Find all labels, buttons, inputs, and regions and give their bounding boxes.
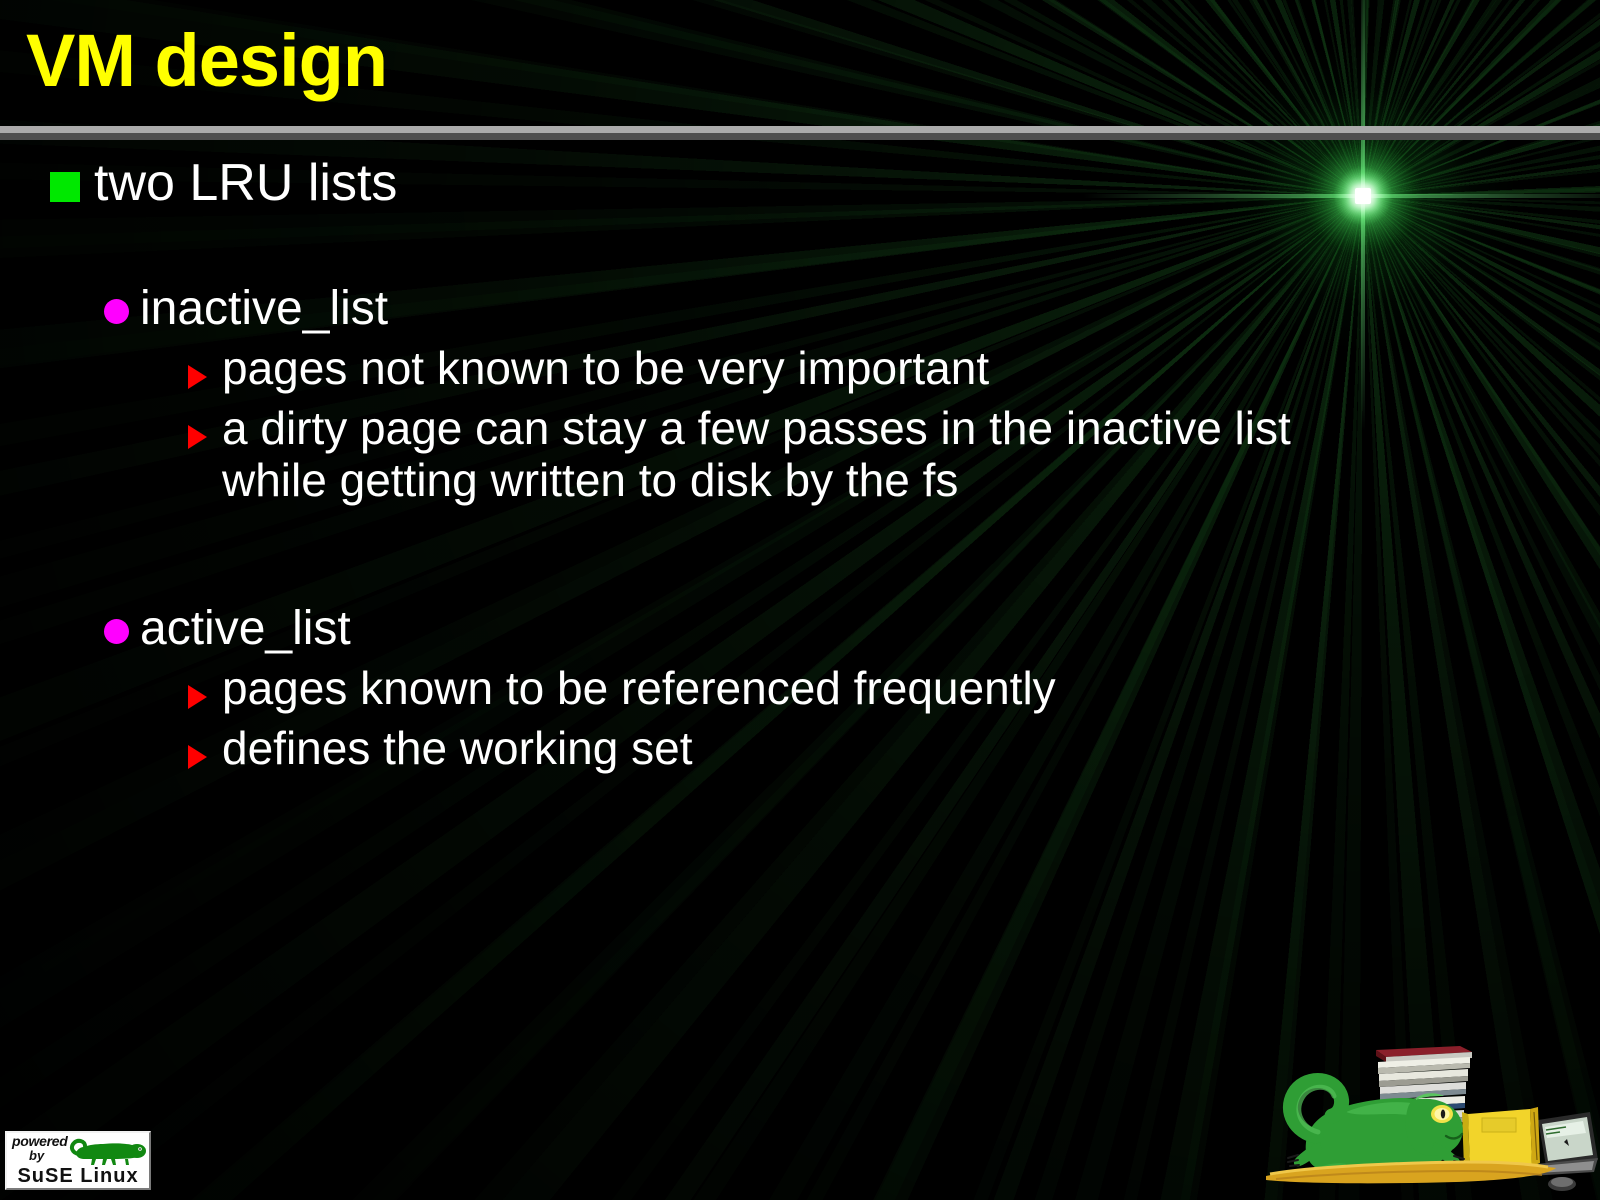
chameleon-icon [69, 1134, 147, 1168]
sand-ground-icon [1266, 1162, 1556, 1183]
bullet-level2: inactive_list [0, 283, 1600, 335]
red-triangle-bullet-icon [188, 425, 207, 449]
bullet-level3: defines the working set [0, 723, 1600, 775]
geeko-chameleon-reading-icon [1246, 1000, 1600, 1200]
bullet-level1-label: two LRU lists [94, 155, 397, 211]
bullet-level1: two LRU lists [0, 155, 1600, 211]
bullet-level3-label: defines the working set [222, 723, 693, 775]
bullet-level2: active_list [0, 603, 1600, 655]
badge-distro-label: SuSE Linux [7, 1166, 149, 1186]
badge-top-row: powered by [7, 1133, 149, 1169]
bullet-level2-label: inactive_list [140, 283, 388, 335]
slide-canvas: VM design two LRU lists inactive_list pa… [0, 0, 1600, 1200]
bullet-level3-line1: a dirty page can stay a few passes in th… [222, 403, 1291, 455]
magenta-dot-bullet-icon [104, 299, 129, 324]
slide-title: VM design [26, 24, 387, 98]
badge-by-label: by [29, 1149, 44, 1162]
laptop-icon [1530, 1112, 1598, 1191]
title-divider [0, 126, 1600, 140]
bullet-level3-label: pages not known to be very important [222, 343, 989, 395]
bullet-group-active-list: active_list pages known to be referenced… [0, 603, 1600, 775]
badge-powered-label: powered [12, 1134, 67, 1149]
red-triangle-bullet-icon [188, 745, 207, 769]
bullet-level3: a dirty page can stay a few passes in th… [0, 403, 1600, 507]
divider-band-dark [0, 133, 1600, 140]
bullet-group-inactive-list: inactive_list pages not known to be very… [0, 283, 1600, 507]
powered-by-suse-badge: powered by SuSE Linux [5, 1131, 151, 1190]
bullet-level3: pages not known to be very important [0, 343, 1600, 395]
bullet-level3-line2: while getting written to disk by the fs [222, 455, 1291, 507]
bullet-level2-label: active_list [140, 603, 351, 655]
green-square-bullet-icon [50, 172, 80, 202]
bullet-level3: pages known to be referenced frequently [0, 663, 1600, 715]
magenta-dot-bullet-icon [104, 619, 129, 644]
bullet-level3-label: pages known to be referenced frequently [222, 663, 1056, 715]
bullet-level3-label: a dirty page can stay a few passes in th… [222, 403, 1291, 507]
divider-band-light [0, 126, 1600, 133]
slide-body: two LRU lists inactive_list pages not kn… [0, 140, 1600, 775]
red-triangle-bullet-icon [188, 365, 207, 389]
red-triangle-bullet-icon [188, 685, 207, 709]
